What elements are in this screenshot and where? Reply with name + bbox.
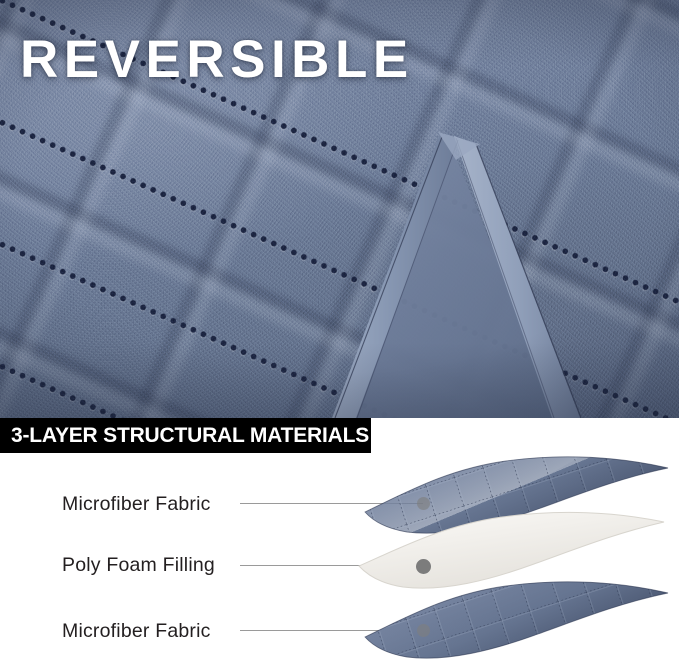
folded-corner-flap xyxy=(330,126,630,418)
layers-diagram-panel: Microfiber Fabric Poly Foam Filling Micr… xyxy=(0,453,679,669)
quilted-fabric-photo: REVERSIBLE xyxy=(0,0,679,418)
page-title: REVERSIBLE xyxy=(20,33,414,86)
product-infographic: REVERSIBLE 3-LAYER STRUCTURAL MATERIALS … xyxy=(0,0,679,669)
layer-shape-bottom xyxy=(350,573,679,669)
layer-label-middle: Poly Foam Filling xyxy=(62,554,215,577)
layer-marker-bottom xyxy=(417,624,430,637)
layer-marker-middle xyxy=(416,559,431,574)
section-banner: 3-LAYER STRUCTURAL MATERIALS xyxy=(0,418,371,453)
layer-label-bottom: Microfiber Fabric xyxy=(62,620,211,643)
layer-label-top: Microfiber Fabric xyxy=(62,493,211,516)
exploded-layer-stack xyxy=(350,448,679,669)
section-banner-title: 3-LAYER STRUCTURAL MATERIALS xyxy=(11,424,369,448)
layer-marker-top xyxy=(417,497,430,510)
